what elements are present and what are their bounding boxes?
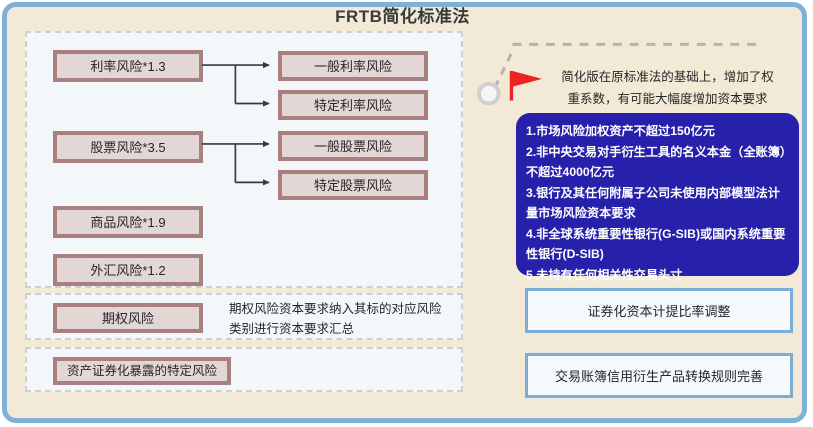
slide-canvas: FRTB简化标准法 利率风险*1.3 股票风险*3.5 商品风险*1.9 外汇风… <box>0 0 813 427</box>
criteria-item-4: 4.非全球系统重要性银行(G-SIB)或国内系统重要性银行(D-SIB) <box>526 224 789 265</box>
callout-line-1: 简化版在原标准法的基础上，增加了权 <box>540 66 795 88</box>
criteria-item-5: 5.未持有任何相关性交易头寸 <box>526 265 789 286</box>
page-title: FRTB简化标准法 <box>0 6 805 28</box>
risk-box-option[interactable]: 期权风险 <box>53 303 203 333</box>
option-risk-note: 期权风险资本要求纳入其标的对应风险类别进行资本要求汇总 <box>229 299 444 339</box>
criteria-item-3: 3.银行及其任何附属子公司未使用内部模型法计量市场风险资本要求 <box>526 183 789 224</box>
risk-box-general-equity[interactable]: 一般股票风险 <box>278 131 428 161</box>
risk-box-commodity[interactable]: 商品风险*1.9 <box>53 206 203 238</box>
risk-box-specific-interest-rate[interactable]: 特定利率风险 <box>278 90 428 120</box>
risk-box-interest-rate[interactable]: 利率风险*1.3 <box>53 50 203 82</box>
criteria-item-2: 2.非中央交易对手衍生工具的名义本金（全账簿）不超过4000亿元 <box>526 142 789 183</box>
blue-box-securitization-ratio[interactable]: 证券化资本计提比率调整 <box>525 288 793 333</box>
risk-box-securitization[interactable]: 资产证券化暴露的特定风险 <box>53 357 231 385</box>
callout-line-2: 重系数，有可能大幅度增加资本要求 <box>540 88 795 110</box>
criteria-item-1: 1.市场风险加权资产不超过150亿元 <box>526 121 789 142</box>
risk-box-general-interest-rate[interactable]: 一般利率风险 <box>278 51 428 81</box>
callout-text: 简化版在原标准法的基础上，增加了权 重系数，有可能大幅度增加资本要求 <box>540 66 795 110</box>
risk-box-fx[interactable]: 外汇风险*1.2 <box>53 254 203 286</box>
eligibility-criteria-panel: 1.市场风险加权资产不超过150亿元 2.非中央交易对手衍生工具的名义本金（全账… <box>516 113 799 276</box>
risk-box-equity[interactable]: 股票风险*3.5 <box>53 131 203 163</box>
risk-box-specific-equity[interactable]: 特定股票风险 <box>278 170 428 200</box>
blue-box-credit-derivative-rules[interactable]: 交易账簿信用衍生产品转换规则完善 <box>525 353 793 398</box>
